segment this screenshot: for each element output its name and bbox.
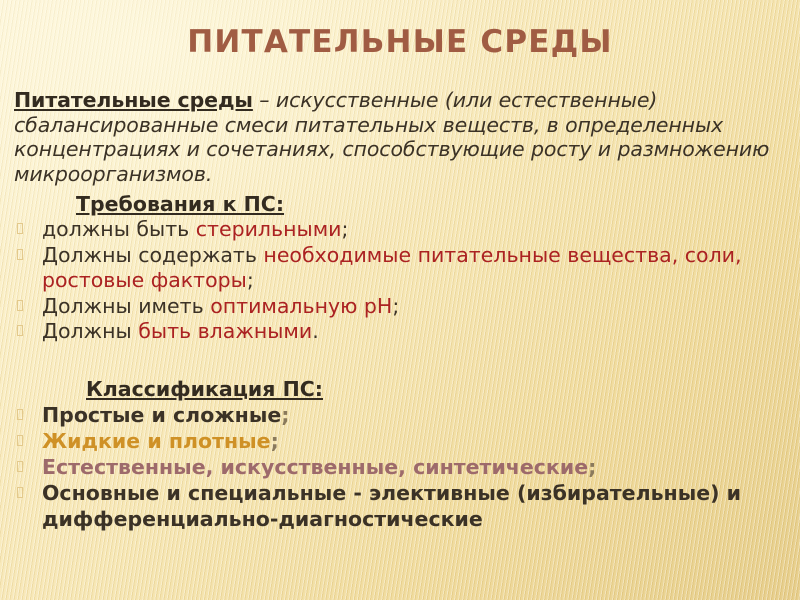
list-item: Простые и сложные;	[14, 402, 792, 428]
bullet-box-icon	[17, 300, 23, 311]
section-spacer	[14, 345, 792, 377]
item-text: Основные и специальные - элективные (изб…	[42, 481, 741, 531]
item-tail: ;	[281, 403, 289, 427]
bullet-box-icon	[17, 223, 23, 234]
item-tail: .	[312, 319, 319, 343]
list-item: должны быть стерильными;	[14, 217, 792, 243]
item-lead: Должны иметь	[42, 294, 210, 318]
definition-paragraph: Питательные среды – искусственные (или е…	[14, 88, 792, 186]
item-accent: стерильными	[196, 217, 342, 241]
item-tail: ;	[588, 455, 596, 479]
classification-heading: Классификация ПС:	[14, 377, 792, 402]
definition-term: Питательные среды	[14, 88, 253, 112]
item-accent: быть влажными	[138, 319, 312, 343]
list-item: Должны быть влажными.	[14, 319, 792, 345]
item-lead: Должны	[42, 319, 138, 343]
classification-list: Простые и сложные; Жидкие и плотные; Ест…	[14, 402, 792, 532]
definition-dash: –	[253, 88, 276, 112]
list-item: Жидкие и плотные;	[14, 428, 792, 454]
slide-content: ПИТАТЕЛЬНЫЕ СРЕДЫ Питательные среды – ис…	[0, 0, 800, 600]
item-lead: Должны содержать	[42, 243, 263, 267]
page-title: ПИТАТЕЛЬНЫЕ СРЕДЫ	[0, 24, 800, 60]
requirements-heading: Требования к ПС:	[14, 192, 792, 217]
bullet-box-icon	[17, 435, 23, 446]
item-text: Жидкие и плотные	[42, 429, 271, 453]
item-accent: оптимальную рН	[210, 294, 392, 318]
requirements-list: должны быть стерильными; Должны содержат…	[14, 217, 792, 345]
item-text: Естественные, искусственные, синтетическ…	[42, 455, 588, 479]
item-tail: ;	[392, 294, 399, 318]
slide-body: Питательные среды – искусственные (или е…	[14, 88, 792, 532]
item-tail: ;	[271, 429, 279, 453]
slide: ПИТАТЕЛЬНЫЕ СРЕДЫ Питательные среды – ис…	[0, 0, 800, 600]
list-item: Должны иметь оптимальную рН;	[14, 294, 792, 320]
list-item: Естественные, искусственные, синтетическ…	[14, 454, 792, 480]
bullet-box-icon	[17, 325, 23, 336]
item-tail: ;	[342, 217, 349, 241]
bullet-box-icon	[17, 409, 23, 420]
bullet-box-icon	[17, 487, 23, 498]
bullet-box-icon	[17, 249, 23, 260]
item-tail: ;	[247, 268, 254, 292]
item-text: Простые и сложные	[42, 403, 281, 427]
list-item: Должны содержать необходимые питательные…	[14, 243, 792, 294]
list-item: Основные и специальные - элективные (изб…	[14, 480, 792, 532]
item-lead: должны быть	[42, 217, 196, 241]
bullet-box-icon	[17, 461, 23, 472]
